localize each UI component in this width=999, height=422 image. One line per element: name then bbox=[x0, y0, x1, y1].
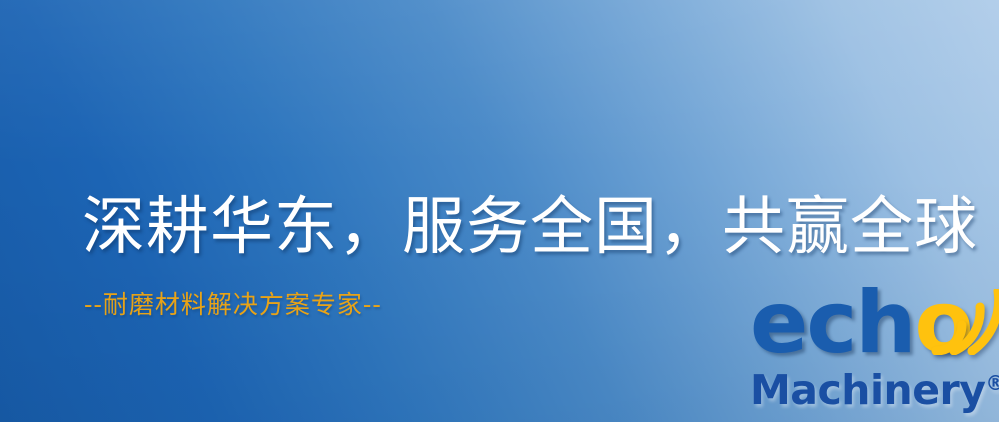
echo-machinery-logo[interactable]: echo Machinery® bbox=[744, 292, 999, 422]
registered-trademark-icon: ® bbox=[985, 371, 999, 395]
hero-banner: 深耕华东，服务全国，共赢全球 --耐磨材料解决方案专家-- echo Machi… bbox=[0, 0, 999, 422]
banner-subtitle: --耐磨材料解决方案专家-- bbox=[84, 291, 382, 319]
logo-wordmark-text: Machinery bbox=[750, 366, 985, 414]
banner-headline: 深耕华东，服务全国，共赢全球 bbox=[82, 194, 978, 260]
logo-brand-ech: ech bbox=[750, 273, 915, 373]
signal-waves-icon bbox=[930, 289, 999, 355]
logo-wordmark: Machinery® bbox=[750, 370, 999, 411]
